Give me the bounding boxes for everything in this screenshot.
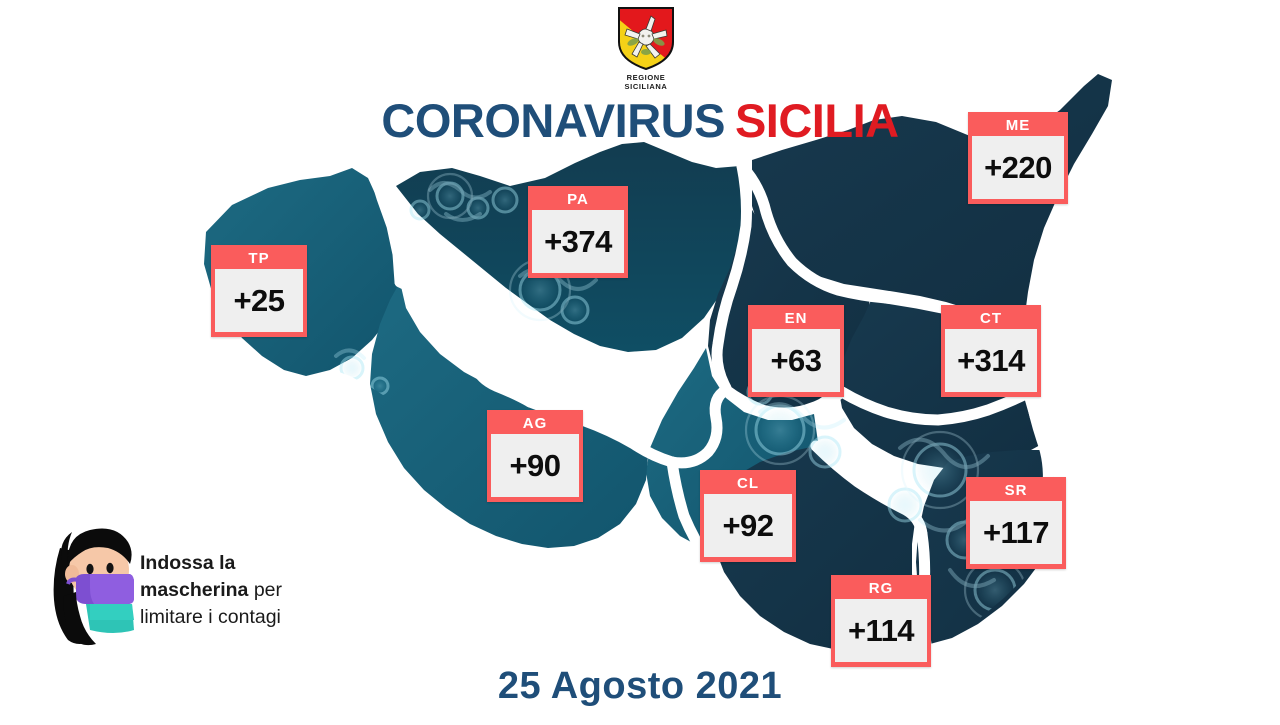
province-value: +374 [532,210,624,273]
province-box-ag: AG+90 [487,410,583,502]
province-code: CT [945,309,1037,329]
mask-line-1: Indossa la [140,552,235,574]
province-box-sr: SR+117 [966,477,1066,569]
province-code: AG [491,414,579,434]
province-box-pa: PA+374 [528,186,628,278]
province-code: PA [532,190,624,210]
mask-line-2-strong: mascherina [140,579,248,601]
logo-caption: REGIONE SICILIANA [610,73,682,91]
province-box-tp: TP+25 [211,245,307,337]
province-code: CL [704,474,792,494]
mask-line-2-light: per [248,579,282,601]
mask-notice-text: Indossa la mascherina per limitare i con… [140,550,355,631]
province-code: SR [970,481,1062,501]
regione-siciliana-logo: REGIONE SICILIANA [610,4,682,88]
girl-with-face-mask-icon [42,512,152,647]
page-title: CORONAVIRUSSICILIA [0,93,1280,148]
trinacria-shield-icon [610,4,682,72]
province-box-cl: CL+92 [700,470,796,562]
title-secondary: SICILIA [735,94,899,147]
province-code: RG [835,579,927,599]
province-value: +114 [835,599,927,662]
mask-line-3: limitare i contagi [140,606,281,628]
province-box-en: EN+63 [748,305,844,397]
province-value: +90 [491,434,579,497]
province-box-ct: CT+314 [941,305,1041,397]
province-value: +220 [972,136,1064,199]
province-value: +92 [704,494,792,557]
province-code: EN [752,309,840,329]
province-value: +25 [215,269,303,332]
date-label: 25 Agosto 2021 [0,665,1280,708]
province-code: ME [972,116,1064,136]
province-value: +63 [752,329,840,392]
province-box-me: ME+220 [968,112,1068,204]
province-code: TP [215,249,303,269]
province-value: +117 [970,501,1062,564]
mask-notice: Indossa la mascherina per limitare i con… [36,512,356,652]
title-primary: CORONAVIRUS [381,94,725,147]
province-box-rg: RG+114 [831,575,931,667]
province-value: +314 [945,329,1037,392]
